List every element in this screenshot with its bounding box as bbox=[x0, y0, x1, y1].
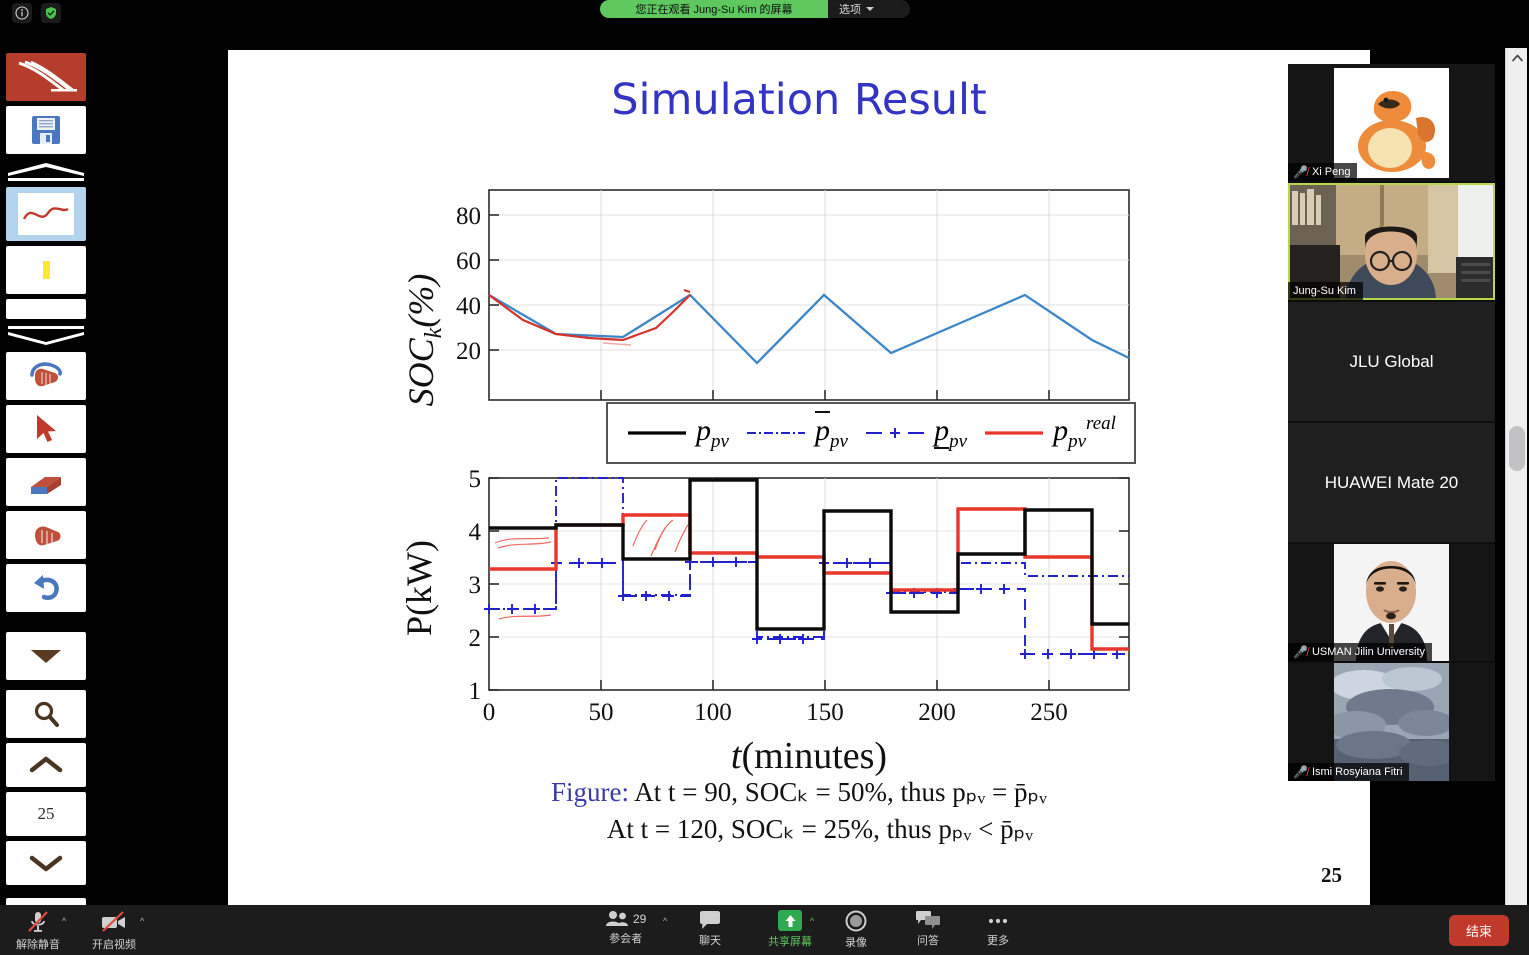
participant-tile-huawei-mate-20[interactable]: HUAWEI Mate 20 bbox=[1288, 423, 1495, 542]
meeting-control-bar: 解除静音 ^ 开启视频 ^ 29 参会者 ^ bbox=[0, 905, 1529, 955]
power-xtick-250: 250 bbox=[1030, 699, 1068, 726]
shield-check-icon[interactable] bbox=[41, 3, 61, 23]
power-xlabel: t(minutes) bbox=[731, 735, 887, 777]
chat-bubble-icon bbox=[698, 910, 722, 930]
top-status-bar: 您正在观看 Jung-Su Kim 的屏幕 选项 bbox=[0, 0, 1529, 22]
participants-button[interactable]: 29 参会者 bbox=[605, 910, 646, 946]
annotation-toolbar: 25 bbox=[0, 45, 92, 905]
power-xtick-150: 150 bbox=[806, 699, 844, 726]
mic-muted-icon bbox=[25, 910, 51, 934]
more-label: 更多 bbox=[987, 932, 1009, 948]
power-chart: P(kW) bbox=[403, 468, 1143, 788]
participant-name-badge: 🎤̸ Xi Peng bbox=[1288, 163, 1357, 181]
share-screen-icon bbox=[778, 910, 802, 931]
annotate-pen-red-tool[interactable] bbox=[6, 53, 86, 101]
record-label: 录像 bbox=[845, 934, 867, 950]
dropdown-tool[interactable] bbox=[6, 632, 86, 680]
ellipsis-icon bbox=[985, 910, 1011, 930]
undo-arrow-icon bbox=[29, 572, 63, 604]
cursor-arrow-icon bbox=[31, 412, 61, 446]
legend-label-p-pv: ppv bbox=[696, 414, 729, 453]
soc-ytick-40: 40 bbox=[456, 293, 481, 320]
scribble-icon bbox=[11, 57, 81, 97]
page-number-display[interactable]: 25 bbox=[6, 792, 86, 836]
participants-label: 参会者 bbox=[609, 930, 642, 946]
pointer-hand-tool[interactable] bbox=[6, 352, 86, 400]
soc-ytick-60: 60 bbox=[456, 248, 481, 275]
video-toggle-label: 开启视频 bbox=[92, 936, 136, 952]
participants-icon bbox=[605, 910, 629, 928]
share-screen-button[interactable]: 共享屏幕 bbox=[768, 910, 812, 949]
eraser-icon bbox=[25, 467, 67, 497]
scroll-up-strip[interactable] bbox=[6, 159, 86, 183]
participant-tile-ismi[interactable]: 🎤̸ Ismi Rosyiana Fitri bbox=[1288, 663, 1495, 781]
open-hand-tool[interactable] bbox=[6, 511, 86, 559]
page-down-button[interactable] bbox=[6, 841, 86, 885]
participant-name: Jung-Su Kim bbox=[1293, 285, 1356, 297]
soc-ylabel: SOCk(%) bbox=[403, 274, 447, 407]
legend-entry-p-pv-real: ppvreal bbox=[983, 413, 1116, 453]
blank-tool[interactable] bbox=[6, 299, 86, 319]
mic-muted-icon: 🎤̸ bbox=[1293, 646, 1308, 658]
avatar bbox=[1334, 68, 1449, 178]
screen-share-notice-bar: 您正在观看 Jung-Su Kim 的屏幕 选项 bbox=[600, 0, 910, 18]
soc-ytick-20: 20 bbox=[456, 338, 481, 365]
power-xtick-50: 50 bbox=[589, 699, 614, 726]
chat-button[interactable]: 聊天 bbox=[698, 910, 722, 948]
wave-curve-icon bbox=[18, 193, 74, 235]
zoom-tool[interactable] bbox=[6, 690, 86, 738]
open-hand-icon bbox=[28, 519, 64, 551]
qa-label: 问答 bbox=[917, 932, 939, 948]
participant-name-badge: Jung-Su Kim bbox=[1288, 282, 1363, 300]
audio-toggle-button[interactable]: 解除静音 bbox=[16, 910, 60, 952]
share-screen-label: 共享屏幕 bbox=[768, 933, 812, 949]
audio-options-chevron-icon[interactable]: ^ bbox=[62, 916, 66, 926]
participant-tile-usman[interactable]: 🎤̸ USMAN Jilin University bbox=[1288, 544, 1495, 661]
power-ytick-3: 3 bbox=[469, 572, 482, 599]
video-options-chevron-icon[interactable]: ^ bbox=[140, 916, 144, 926]
legend-swatch-solid-red bbox=[983, 427, 1045, 439]
magnifier-icon bbox=[31, 699, 61, 729]
legend-swatch-dashplus-blue bbox=[864, 426, 926, 440]
info-circle-icon[interactable] bbox=[12, 3, 32, 23]
chevron-down-thin-icon bbox=[6, 324, 86, 348]
power-xtick-100: 100 bbox=[694, 699, 732, 726]
triangle-down-icon bbox=[29, 647, 63, 665]
participant-tile-xi-peng[interactable]: 🎤̸ Xi Peng bbox=[1288, 64, 1495, 181]
power-xtick-200: 200 bbox=[918, 699, 956, 726]
legend-swatch-dashdot-blue bbox=[745, 427, 807, 439]
participants-count: 29 bbox=[633, 912, 646, 926]
figure-caption: Figure: At t = 90, SOCₖ = 50%, thus pₚᵥ … bbox=[228, 774, 1370, 849]
highlighter-tool[interactable] bbox=[6, 246, 86, 294]
page-number-label: 25 bbox=[38, 804, 55, 824]
participants-icon-row: 29 bbox=[605, 910, 646, 928]
shared-screen-slide: Simulation Result SOCk(%) bbox=[228, 50, 1370, 906]
curve-tool[interactable] bbox=[6, 187, 86, 241]
participant-name: USMAN Jilin University bbox=[1312, 646, 1425, 658]
legend-swatch-solid-black bbox=[626, 427, 688, 439]
power-ytick-1: 1 bbox=[469, 678, 482, 705]
end-meeting-button[interactable]: 结束 bbox=[1449, 915, 1509, 946]
caption-line-1: Figure: At t = 90, SOCₖ = 50%, thus pₚᵥ … bbox=[228, 774, 1370, 811]
mic-muted-icon: 🎤̸ bbox=[1293, 166, 1308, 178]
undo-tool[interactable] bbox=[6, 564, 86, 612]
participant-tile-jlu-global[interactable]: JLU Global bbox=[1288, 302, 1495, 421]
more-button[interactable]: 更多 bbox=[985, 910, 1011, 948]
caption-line-2: At t = 120, SOCₖ = 25%, thus pₚᵥ < p̄ₚᵥ bbox=[228, 811, 1370, 848]
mic-muted-icon: 🎤̸ bbox=[1293, 766, 1308, 778]
chat-label: 聊天 bbox=[699, 932, 721, 948]
floppy-disk-icon bbox=[29, 113, 63, 147]
record-button[interactable]: 录像 bbox=[845, 910, 867, 950]
page-up-button[interactable] bbox=[6, 743, 86, 787]
caption-line-1-text: At t = 90, SOCₖ = 50%, thus pₚᵥ = p̄ₚᵥ bbox=[634, 777, 1047, 807]
participant-name-badge: 🎤̸ Ismi Rosyiana Fitri bbox=[1288, 763, 1409, 781]
participant-name: Ismi Rosyiana Fitri bbox=[1312, 766, 1402, 778]
chevron-up-icon bbox=[29, 756, 63, 774]
eraser-tool[interactable] bbox=[6, 458, 86, 506]
participant-video-strip: 🎤̸ Xi Peng bbox=[1288, 64, 1495, 781]
power-ylabel: P(kW) bbox=[403, 540, 439, 636]
power-ytick-5: 5 bbox=[469, 468, 482, 493]
legend-label-p-pv-bar: ppv bbox=[815, 414, 848, 453]
zoom-meeting-window: 您正在观看 Jung-Su Kim 的屏幕 选项 bbox=[0, 0, 1529, 955]
audio-toggle-label: 解除静音 bbox=[16, 936, 60, 952]
yellow-marker-icon bbox=[38, 255, 54, 285]
share-options-label: 选项 bbox=[839, 1, 861, 17]
camera-off-icon bbox=[99, 910, 129, 934]
save-tool[interactable] bbox=[6, 106, 86, 154]
participant-tile-jung-su-kim[interactable]: Jung-Su Kim bbox=[1288, 183, 1495, 300]
power-chart-legend: ppv ppv ppv ppvreal bbox=[606, 402, 1136, 464]
participant-name-badge: 🎤̸ USMAN Jilin University bbox=[1288, 643, 1432, 661]
participants-chevron-icon[interactable]: ^ bbox=[663, 916, 667, 926]
share-options-button[interactable]: 选项 bbox=[828, 1, 874, 17]
charizard-avatar-icon bbox=[1334, 68, 1449, 178]
participant-display-name: JLU Global bbox=[1288, 302, 1495, 421]
power-ytick-2: 2 bbox=[469, 625, 482, 652]
participant-display-name: HUAWEI Mate 20 bbox=[1288, 423, 1495, 542]
share-options-chevron-icon[interactable]: ^ bbox=[810, 916, 814, 926]
chevron-down-icon bbox=[866, 7, 874, 11]
legend-entry-p-pv: ppv bbox=[626, 414, 729, 453]
chevron-up-thin-icon bbox=[6, 159, 86, 183]
record-circle-icon bbox=[845, 910, 867, 932]
qa-bubbles-icon bbox=[915, 910, 941, 930]
participant-name: Xi Peng bbox=[1312, 166, 1351, 178]
power-xtick-0: 0 bbox=[483, 699, 496, 726]
legend-entry-p-pv-bar: ppv bbox=[745, 414, 848, 453]
page-title: Simulation Result bbox=[228, 75, 1370, 125]
legend-entry-p-pv-under: ppv bbox=[864, 414, 967, 453]
scrollbar-thumb[interactable] bbox=[1509, 426, 1525, 471]
caption-figure-label: Figure: bbox=[551, 777, 629, 807]
slide-page-number: 25 bbox=[1321, 863, 1342, 888]
scroll-down-strip[interactable] bbox=[6, 324, 86, 348]
soc-ytick-80: 80 bbox=[456, 203, 481, 230]
vertical-scrollbar[interactable] bbox=[1505, 48, 1527, 905]
select-arrow-tool[interactable] bbox=[6, 405, 86, 453]
power-ytick-4: 4 bbox=[469, 519, 482, 546]
scroll-up-arrow-icon[interactable] bbox=[1506, 48, 1528, 68]
hand-point-icon bbox=[27, 359, 65, 393]
share-notice-text: 您正在观看 Jung-Su Kim 的屏幕 bbox=[600, 0, 828, 18]
legend-label-p-pv-under: ppv bbox=[934, 414, 967, 453]
chevron-down-icon bbox=[29, 854, 63, 872]
legend-label-p-pv-real: ppvreal bbox=[1053, 413, 1116, 453]
video-toggle-button[interactable]: 开启视频 bbox=[92, 910, 136, 952]
qa-button[interactable]: 问答 bbox=[915, 910, 941, 948]
